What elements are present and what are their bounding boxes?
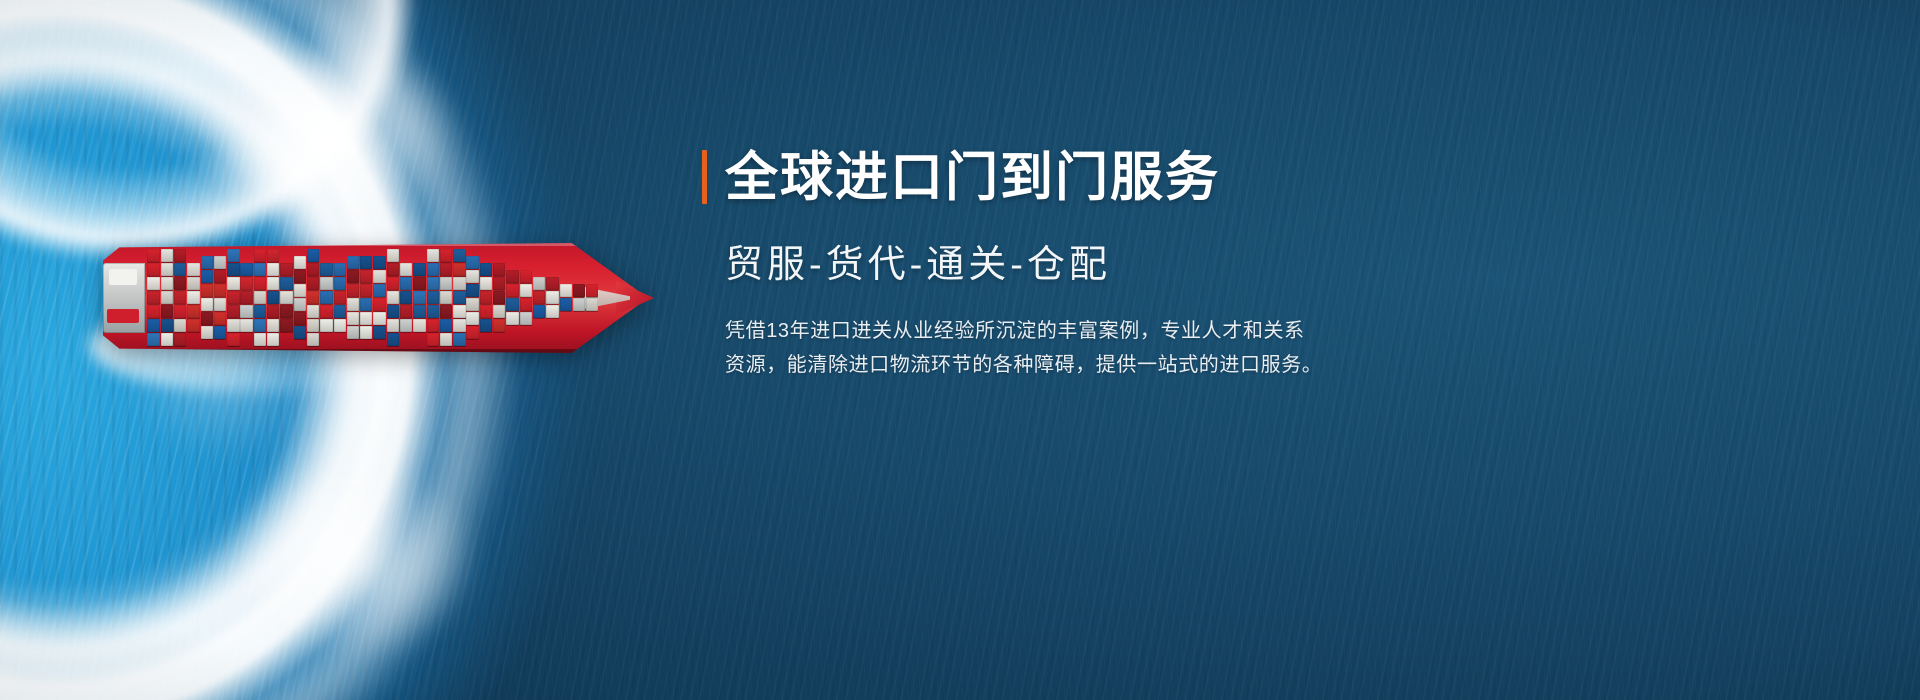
- shipping-container: [187, 305, 199, 318]
- shipping-container: [187, 291, 199, 304]
- shipping-container: [387, 263, 399, 276]
- shipping-container: [453, 263, 465, 276]
- shipping-container: [201, 270, 213, 283]
- shipping-container: [214, 298, 226, 311]
- shipping-container: [147, 249, 159, 262]
- shipping-container: [373, 256, 385, 269]
- shipping-container: [201, 312, 213, 325]
- shipping-container: [466, 298, 478, 311]
- shipping-container: [413, 263, 425, 276]
- shipping-container: [466, 256, 478, 269]
- shipping-container: [413, 291, 425, 304]
- shipping-container: [373, 270, 385, 283]
- shipping-container: [280, 305, 292, 318]
- shipping-container: [227, 291, 239, 304]
- shipping-container: [560, 284, 572, 297]
- shipping-container: [320, 291, 332, 304]
- shipping-container: [400, 277, 412, 290]
- shipping-container: [387, 305, 399, 318]
- shipping-container: [307, 319, 319, 332]
- shipping-container: [506, 298, 518, 311]
- shipping-container: [254, 249, 266, 262]
- shipping-container: [240, 291, 252, 304]
- shipping-container: [334, 305, 346, 318]
- shipping-container: [506, 270, 518, 283]
- shipping-container: [161, 305, 173, 318]
- shipping-container: [267, 277, 279, 290]
- ship-funnel: [107, 309, 139, 323]
- shipping-container: [520, 312, 532, 325]
- shipping-container: [440, 319, 452, 332]
- shipping-container: [347, 284, 359, 297]
- shipping-container: [201, 256, 213, 269]
- shipping-container: [440, 277, 452, 290]
- shipping-container: [240, 277, 252, 290]
- shipping-container: [453, 291, 465, 304]
- shipping-container: [493, 277, 505, 290]
- shipping-container: [214, 270, 226, 283]
- shipping-container: [267, 333, 279, 346]
- shipping-container: [147, 305, 159, 318]
- shipping-container: [240, 305, 252, 318]
- shipping-container: [427, 305, 439, 318]
- shipping-container: [161, 319, 173, 332]
- shipping-container: [294, 284, 306, 297]
- shipping-container: [400, 319, 412, 332]
- shipping-container: [373, 312, 385, 325]
- shipping-container: [466, 312, 478, 325]
- shipping-container: [161, 249, 173, 262]
- shipping-container: [147, 319, 159, 332]
- shipping-container: [334, 319, 346, 332]
- shipping-container: [413, 319, 425, 332]
- shipping-container: [187, 319, 199, 332]
- shipping-container: [573, 284, 585, 297]
- shipping-container: [427, 249, 439, 262]
- shipping-container: [480, 277, 492, 290]
- shipping-container: [267, 319, 279, 332]
- shipping-container: [400, 263, 412, 276]
- shipping-container: [161, 263, 173, 276]
- shipping-container: [294, 326, 306, 339]
- shipping-container: [334, 291, 346, 304]
- shipping-container: [240, 319, 252, 332]
- shipping-container: [280, 291, 292, 304]
- shipping-container: [480, 263, 492, 276]
- shipping-container: [347, 256, 359, 269]
- shipping-container: [161, 277, 173, 290]
- shipping-container: [227, 305, 239, 318]
- accent-bar-icon: [702, 150, 707, 204]
- shipping-container: [347, 298, 359, 311]
- shipping-container: [214, 256, 226, 269]
- shipping-container: [493, 291, 505, 304]
- shipping-container: [227, 263, 239, 276]
- shipping-container: [440, 263, 452, 276]
- shipping-container: [360, 326, 372, 339]
- shipping-container: [360, 256, 372, 269]
- shipping-container: [427, 291, 439, 304]
- shipping-container: [413, 277, 425, 290]
- shipping-container: [546, 291, 558, 304]
- shipping-container: [334, 263, 346, 276]
- shipping-container: [493, 319, 505, 332]
- shipping-container: [546, 305, 558, 318]
- shipping-container: [360, 284, 372, 297]
- shipping-container: [373, 298, 385, 311]
- shipping-container: [560, 298, 572, 311]
- shipping-container: [427, 333, 439, 346]
- shipping-container: [254, 263, 266, 276]
- shipping-container: [147, 263, 159, 276]
- shipping-container: [493, 263, 505, 276]
- shipping-container: [254, 319, 266, 332]
- shipping-container: [506, 312, 518, 325]
- shipping-container: [174, 291, 186, 304]
- shipping-container: [427, 263, 439, 276]
- shipping-container: [147, 291, 159, 304]
- shipping-container: [174, 263, 186, 276]
- shipping-container: [387, 291, 399, 304]
- shipping-container: [254, 305, 266, 318]
- shipping-container: [387, 277, 399, 290]
- shipping-container: [227, 249, 239, 262]
- service-subtitle: 贸服-货代-通关-仓配: [725, 246, 1462, 284]
- shipping-container: [227, 277, 239, 290]
- shipping-container: [520, 284, 532, 297]
- shipping-container: [174, 249, 186, 262]
- shipping-container: [320, 263, 332, 276]
- shipping-container: [174, 319, 186, 332]
- shipping-container: [480, 319, 492, 332]
- shipping-container: [373, 284, 385, 297]
- shipping-container: [267, 249, 279, 262]
- shipping-container: [466, 284, 478, 297]
- shipping-container: [480, 305, 492, 318]
- description-line-1: 凭借13年进口进关从业经验所沉淀的丰富案例，专业人才和关系: [725, 314, 1440, 348]
- shipping-container: [240, 263, 252, 276]
- shipping-container: [453, 319, 465, 332]
- shipping-container: [360, 298, 372, 311]
- shipping-container: [347, 312, 359, 325]
- shipping-container: [480, 291, 492, 304]
- shipping-container: [267, 263, 279, 276]
- shipping-container: [533, 277, 545, 290]
- shipping-container: [520, 270, 532, 283]
- shipping-container: [267, 305, 279, 318]
- shipping-container: [400, 291, 412, 304]
- shipping-container: [174, 305, 186, 318]
- ship-stern-superstructure: [103, 263, 145, 333]
- shipping-container: [387, 333, 399, 346]
- shipping-container: [227, 333, 239, 346]
- shipping-container: [307, 249, 319, 262]
- shipping-container: [307, 263, 319, 276]
- shipping-container: [453, 249, 465, 262]
- shipping-container: [427, 319, 439, 332]
- headline-row: 全球进口门到门服务: [702, 150, 1462, 204]
- shipping-container: [347, 270, 359, 283]
- shipping-container: [334, 277, 346, 290]
- hero-banner: 全球进口门到门服务 贸服-货代-通关-仓配 凭借13年进口进关从业经验所沉淀的丰…: [0, 0, 1920, 700]
- shipping-container: [586, 284, 598, 297]
- shipping-container: [533, 305, 545, 318]
- shipping-container: [254, 291, 266, 304]
- shipping-container: [254, 277, 266, 290]
- shipping-container: [187, 263, 199, 276]
- shipping-container: [147, 333, 159, 346]
- shipping-container: [214, 312, 226, 325]
- shipping-container: [320, 319, 332, 332]
- shipping-container: [214, 284, 226, 297]
- shipping-container: [307, 333, 319, 346]
- shipping-container: [453, 333, 465, 346]
- banner-content: 全球进口门到门服务 贸服-货代-通关-仓配 凭借13年进口进关从业经验所沉淀的丰…: [702, 150, 1462, 383]
- shipping-container: [294, 312, 306, 325]
- shipping-container: [187, 277, 199, 290]
- shipping-container: [280, 263, 292, 276]
- shipping-container: [546, 277, 558, 290]
- shipping-container: [360, 270, 372, 283]
- shipping-container: [400, 305, 412, 318]
- shipping-container: [280, 319, 292, 332]
- shipping-container: [466, 326, 478, 339]
- wake-foam-lower: [230, 460, 480, 660]
- shipping-container: [533, 291, 545, 304]
- shipping-container: [294, 298, 306, 311]
- shipping-container: [174, 277, 186, 290]
- shipping-container: [573, 298, 585, 311]
- shipping-container: [174, 333, 186, 346]
- wake-foam-upper: [200, 40, 460, 230]
- shipping-container: [214, 326, 226, 339]
- shipping-container: [453, 305, 465, 318]
- shipping-container: [427, 277, 439, 290]
- banner-description: 凭借13年进口进关从业经验所沉淀的丰富案例，专业人才和关系 资源，能清除进口物流…: [725, 314, 1440, 383]
- shipping-container: [254, 333, 266, 346]
- shipping-container: [294, 256, 306, 269]
- shipping-container: [387, 249, 399, 262]
- shipping-container: [520, 298, 532, 311]
- shipping-container: [453, 277, 465, 290]
- shipping-container: [440, 305, 452, 318]
- ship-bridge: [109, 269, 137, 285]
- shipping-container: [201, 298, 213, 311]
- shipping-container: [586, 298, 598, 311]
- description-line-2: 资源，能清除进口物流环节的各种障碍，提供一站式的进口服务。: [725, 348, 1440, 382]
- shipping-container: [506, 284, 518, 297]
- shipping-container: [440, 291, 452, 304]
- shipping-container: [493, 305, 505, 318]
- shipping-container: [440, 333, 452, 346]
- shipping-container: [161, 291, 173, 304]
- shipping-container: [413, 305, 425, 318]
- page-title: 全球进口门到门服务: [725, 151, 1220, 204]
- shipping-container: [161, 333, 173, 346]
- shipping-container: [201, 326, 213, 339]
- shipping-container: [347, 326, 359, 339]
- shipping-container: [387, 319, 399, 332]
- shipping-container: [307, 277, 319, 290]
- shipping-container: [307, 305, 319, 318]
- shipping-container: [440, 249, 452, 262]
- shipping-container: [320, 277, 332, 290]
- shipping-container: [294, 270, 306, 283]
- shipping-container: [360, 312, 372, 325]
- shipping-container: [466, 270, 478, 283]
- shipping-container: [320, 305, 332, 318]
- shipping-container: [227, 319, 239, 332]
- shipping-container: [267, 291, 279, 304]
- shipping-container: [307, 291, 319, 304]
- container-ship: [103, 243, 648, 353]
- shipping-container: [201, 284, 213, 297]
- container-stacks: [147, 249, 599, 347]
- shipping-container: [147, 277, 159, 290]
- shipping-container: [280, 277, 292, 290]
- shipping-container: [373, 326, 385, 339]
